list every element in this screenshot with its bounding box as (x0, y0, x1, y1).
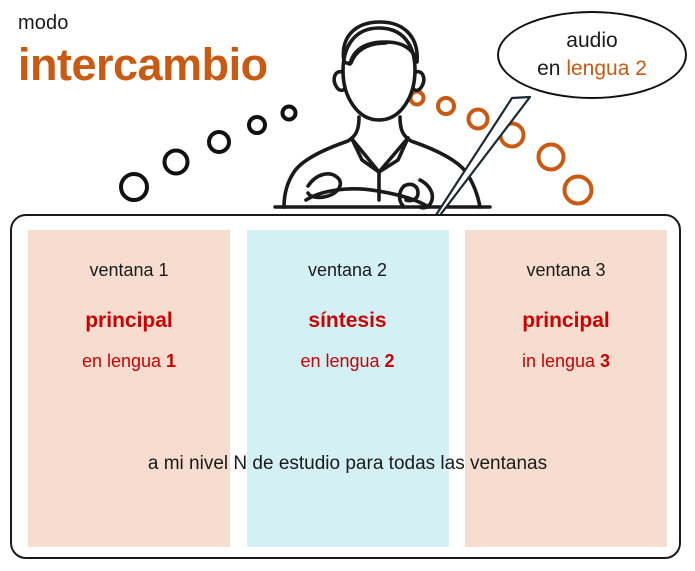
speech-bubble-line-2: en lengua 2 (537, 55, 647, 83)
window-2-label: ventana 2 (247, 260, 449, 281)
heading-eyebrow: modo (18, 13, 348, 33)
windows-row: ventana 1 principal en lengua 1 ventana … (28, 230, 667, 547)
window-2-role: síntesis (247, 309, 449, 333)
window-1-language-number: 1 (166, 351, 176, 371)
window-3-language: in lengua 3 (465, 351, 667, 372)
window-card-2[interactable]: ventana 2 síntesis en lengua 2 (247, 230, 449, 547)
window-2-language-prefix: en lengua (300, 351, 384, 371)
page-title: intercambio (18, 42, 348, 87)
window-1-role: principal (28, 309, 230, 333)
window-1-language-prefix: en lengua (82, 351, 166, 371)
speech-bubble-line-1: audio (566, 27, 617, 55)
window-3-language-prefix: in lengua (522, 351, 600, 371)
window-3-language-number: 3 (600, 351, 610, 371)
orange-bubble-trail (411, 92, 592, 204)
window-1-label: ventana 1 (28, 260, 230, 281)
windows-panel: ventana 1 principal en lengua 1 ventana … (10, 214, 681, 559)
speech-bubble-line-2-prefix: en (537, 57, 566, 80)
window-card-3[interactable]: ventana 3 principal in lengua 3 (465, 230, 667, 547)
window-1-language: en lengua 1 (28, 351, 230, 372)
window-2-language: en lengua 2 (247, 351, 449, 372)
black-bubble-trail (121, 107, 296, 201)
window-3-label: ventana 3 (465, 260, 667, 281)
speech-bubble: audio en lengua 2 (497, 11, 687, 99)
window-2-language-number: 2 (385, 351, 395, 371)
window-card-1[interactable]: ventana 1 principal en lengua 1 (28, 230, 230, 547)
window-3-role: principal (465, 309, 667, 333)
speech-bubble-tail (412, 97, 530, 232)
speech-bubble-line-2-accent: lengua 2 (566, 57, 647, 80)
speech-bubble-text: audio en lengua 2 (497, 11, 687, 99)
page-heading: modo intercambio (18, 13, 348, 87)
